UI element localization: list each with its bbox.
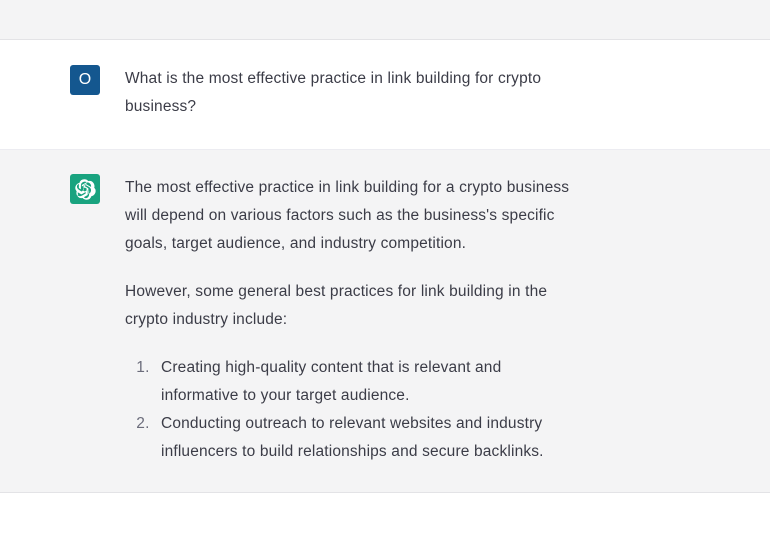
message-row-assistant: The most effective practice in link buil… — [0, 150, 770, 493]
openai-logo-icon — [70, 174, 100, 204]
bottom-spacer — [0, 493, 770, 537]
user-initial-avatar: O — [70, 65, 100, 95]
avatar-column: O — [0, 65, 100, 121]
message-row-user: O What is the most effective practice in… — [0, 40, 770, 150]
assistant-ordered-list: Creating high-quality content that is re… — [125, 354, 570, 466]
top-spacer-band — [0, 0, 770, 40]
list-item: Creating high-quality content that is re… — [154, 354, 570, 410]
assistant-paragraph: The most effective practice in link buil… — [125, 174, 570, 258]
user-question-text: What is the most effective practice in l… — [125, 65, 570, 121]
list-item: Conducting outreach to relevant websites… — [154, 410, 570, 466]
message-body-assistant: The most effective practice in link buil… — [100, 174, 600, 466]
message-body-user: What is the most effective practice in l… — [100, 65, 600, 121]
chat-transcript: O What is the most effective practice in… — [0, 0, 770, 544]
assistant-paragraph: However, some general best practices for… — [125, 278, 570, 334]
avatar-column — [0, 174, 100, 466]
